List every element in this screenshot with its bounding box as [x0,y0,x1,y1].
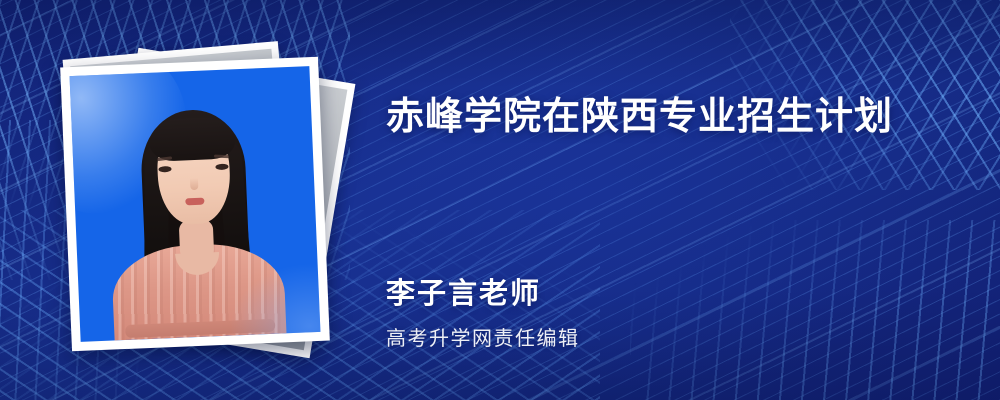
banner-title: 赤峰学院在陕西专业招生计划 [386,94,893,142]
portrait-illustration [96,98,296,341]
portrait-neck [179,219,215,260]
author-photo-card [60,57,330,352]
author-role: 高考升学网责任编辑 [386,322,580,351]
author-name: 李子言老师 [386,270,541,312]
text-column: 赤峰学院在陕西专业招生计划 李子言老师 高考升学网责任编辑 [386,0,986,400]
author-photo [70,66,321,342]
portrait-mouth [185,198,204,206]
portrait-nose [190,178,198,190]
portrait-eyebrow-right [214,155,229,159]
photo-card-stack [58,46,348,356]
promo-banner: 赤峰学院在陕西专业招生计划 李子言老师 高考升学网责任编辑 [0,0,1000,400]
